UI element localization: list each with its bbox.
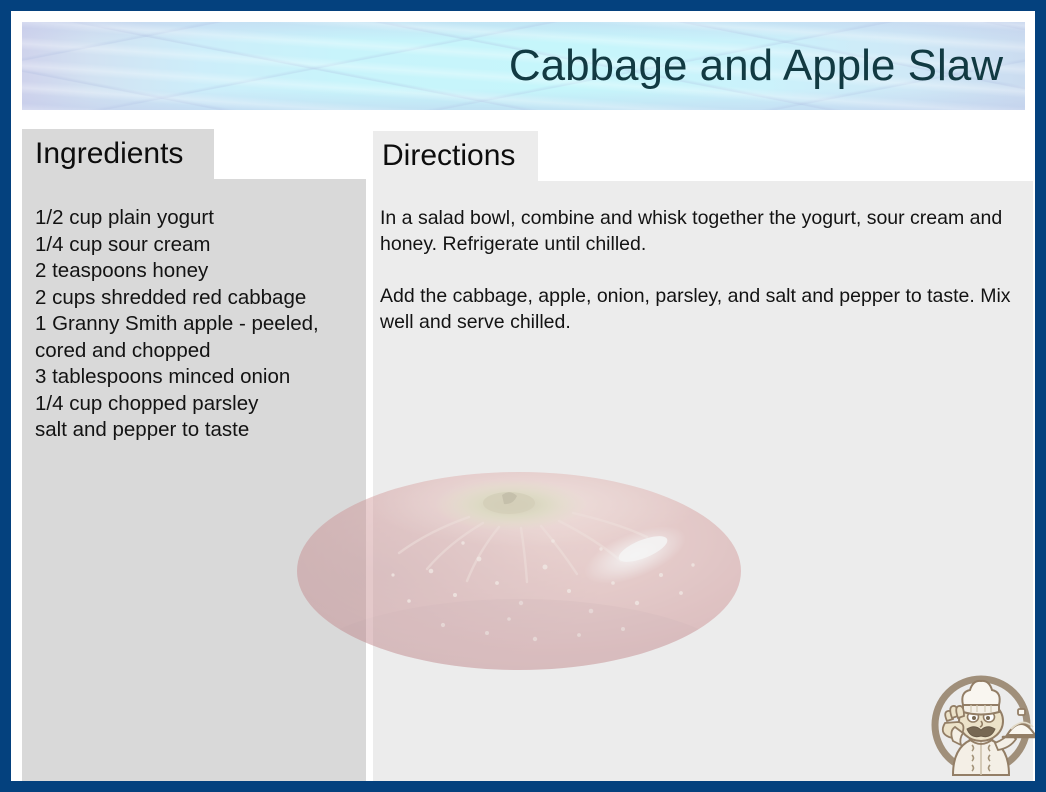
slide-border-top: [0, 0, 1046, 11]
directions-tab: Directions: [373, 131, 538, 181]
slide-border-left: [0, 0, 11, 792]
ingredients-tab-label: Ingredients: [35, 137, 183, 170]
directions-paragraph-2: Add the cabbage, apple, onion, parsley, …: [380, 283, 1028, 335]
ingredients-list: 1/2 cup plain yogurt 1/4 cup sour cream …: [35, 205, 355, 444]
recipe-slide: Cabbage and Apple Slaw Ingredients 1/2 c…: [0, 0, 1046, 792]
directions-paragraph-1: In a salad bowl, combine and whisk toget…: [380, 205, 1028, 257]
ingredients-tab: Ingredients: [22, 129, 214, 179]
slide-border-bottom: [0, 781, 1046, 792]
directions-text: In a salad bowl, combine and whisk toget…: [380, 205, 1028, 335]
directions-tab-label: Directions: [382, 139, 515, 172]
slide-border-right: [1035, 0, 1046, 792]
page-title: Cabbage and Apple Slaw: [509, 44, 1003, 88]
slide-content-area: Cabbage and Apple Slaw Ingredients 1/2 c…: [11, 11, 1035, 781]
header-banner: Cabbage and Apple Slaw: [22, 22, 1025, 110]
